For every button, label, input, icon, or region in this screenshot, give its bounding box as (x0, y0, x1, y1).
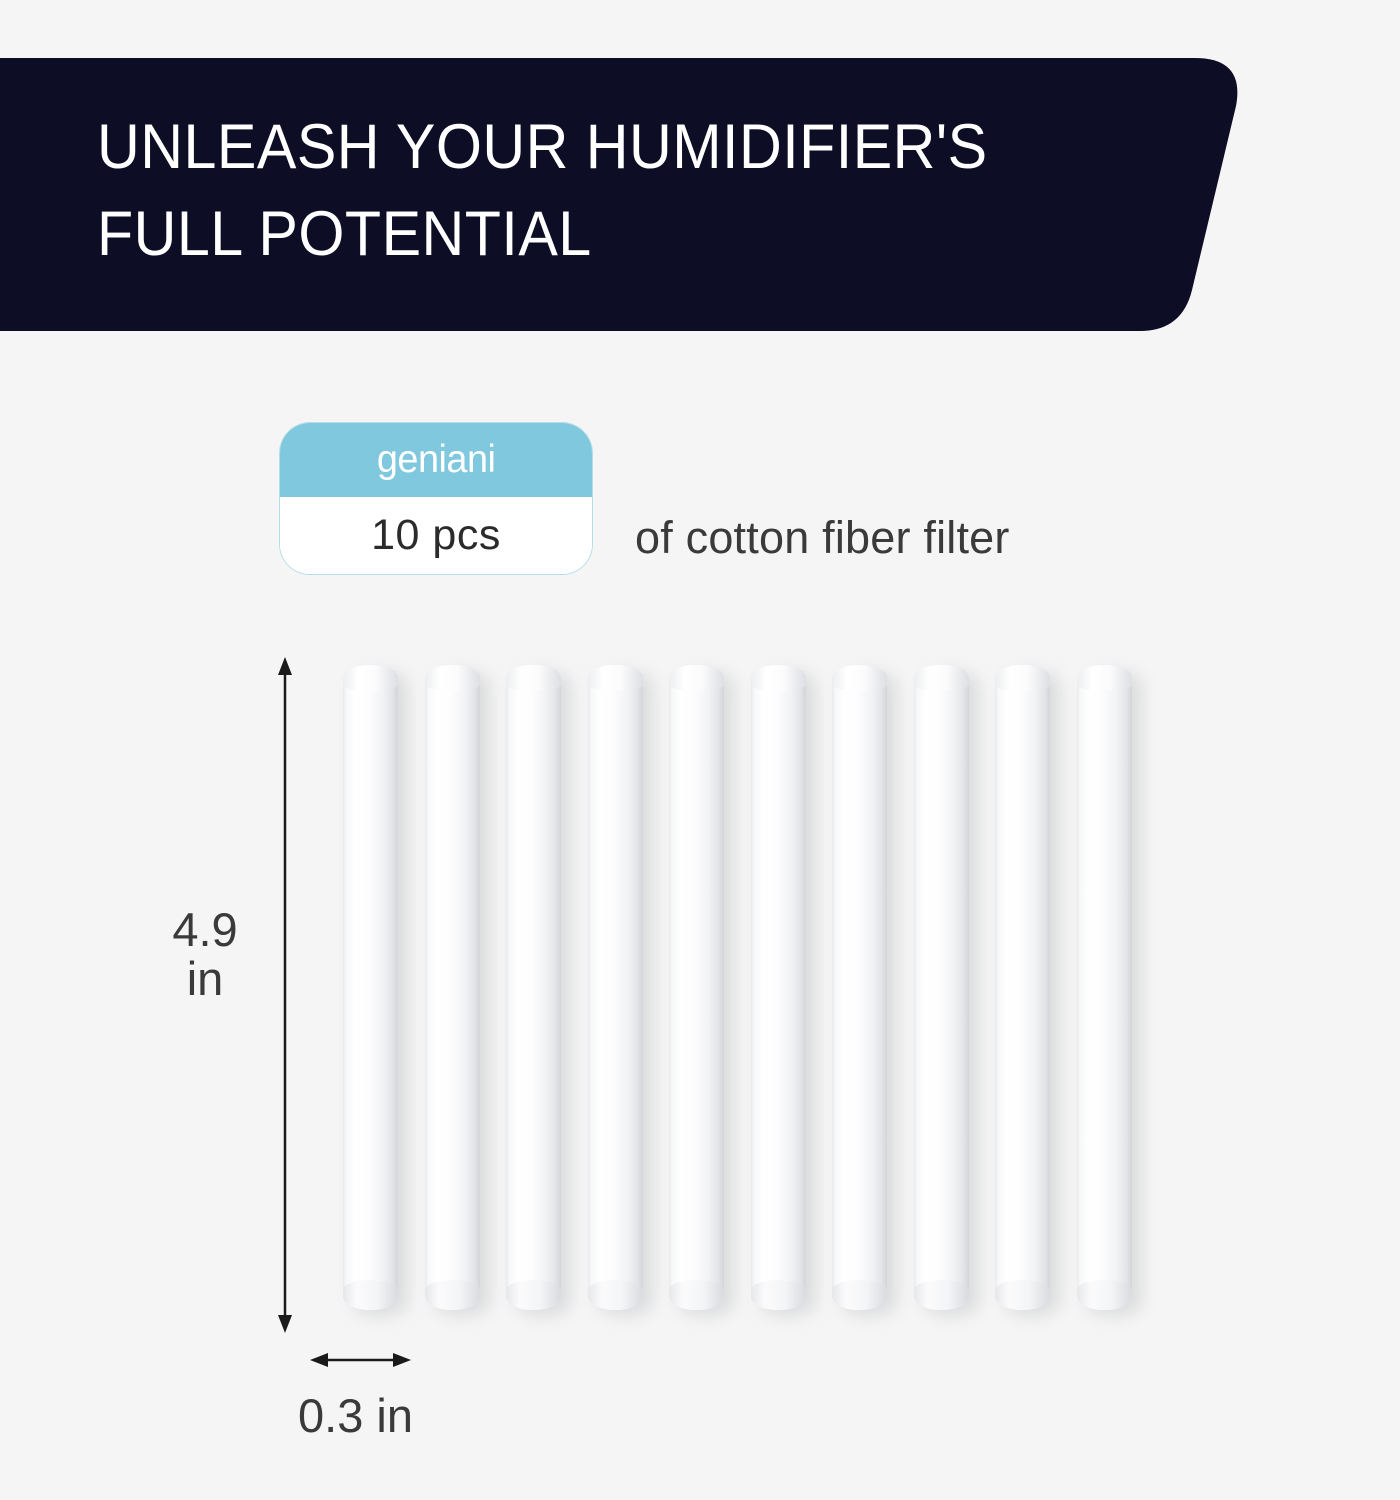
filter-stick (343, 665, 398, 1310)
count-strip: 10 pcs (280, 497, 592, 574)
stick-top-cap (588, 665, 643, 691)
stick-top-cap (832, 665, 887, 691)
stick-top-cap (995, 665, 1050, 691)
filter-stick (1077, 665, 1132, 1310)
stick-bottom-cap (1077, 1280, 1132, 1310)
filter-stick (669, 665, 724, 1310)
filter-stick (588, 665, 643, 1310)
filter-stick (751, 665, 806, 1310)
stick-top-cap (751, 665, 806, 691)
stick-top-cap (425, 665, 480, 691)
filter-stick (425, 665, 480, 1310)
stick-bottom-cap (425, 1280, 480, 1310)
filter-stick (506, 665, 561, 1310)
filter-stick (914, 665, 969, 1310)
stick-bottom-cap (914, 1280, 969, 1310)
stick-bottom-cap (506, 1280, 561, 1310)
width-dimension-arrow (308, 1340, 413, 1380)
quantity-badge: geniani 10 pcs (280, 423, 592, 574)
stick-bottom-cap (343, 1280, 398, 1310)
filter-stick (995, 665, 1050, 1310)
filter-stick-group (343, 665, 1133, 1315)
brand-logo-text: geniani (377, 438, 496, 482)
stick-top-cap (914, 665, 969, 691)
height-dimension-label: 4.9 in (150, 905, 260, 1004)
header-banner: UNLEASH YOUR HUMIDIFIER'S FULL POTENTIAL (0, 58, 1245, 331)
stick-top-cap (506, 665, 561, 691)
piece-count-label: 10 pcs (371, 511, 501, 560)
page-title: UNLEASH YOUR HUMIDIFIER'S FULL POTENTIAL (97, 104, 1093, 278)
product-caption: of cotton fiber filter (635, 512, 1010, 564)
width-dimension-label: 0.3 in (298, 1388, 413, 1443)
stick-top-cap (1077, 665, 1132, 691)
brand-strip: geniani (280, 423, 592, 497)
stick-bottom-cap (669, 1280, 724, 1310)
stick-bottom-cap (995, 1280, 1050, 1310)
height-dimension-arrow (262, 655, 308, 1335)
stick-top-cap (669, 665, 724, 691)
stick-bottom-cap (751, 1280, 806, 1310)
stick-bottom-cap (588, 1280, 643, 1310)
stick-top-cap (343, 665, 398, 691)
stick-bottom-cap (832, 1280, 887, 1310)
filter-stick (832, 665, 887, 1310)
